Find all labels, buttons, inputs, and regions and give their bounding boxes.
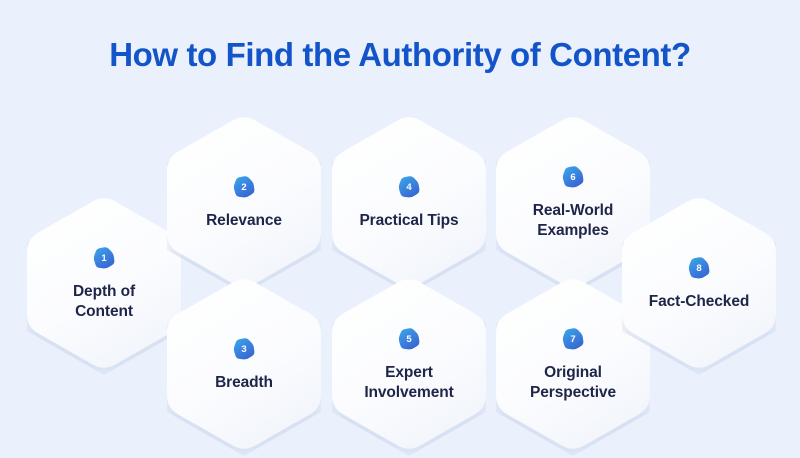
hexagon-practical-tips[interactable]: 4Practical Tips [328, 110, 490, 296]
hexagon-step-number: 8 [686, 255, 712, 281]
hexagon-label-line: Depth of [38, 282, 170, 302]
hexagon-label-line: Practical Tips [343, 211, 475, 231]
hexagon-fact-checked[interactable]: 8Fact-Checked [618, 191, 780, 377]
hexagon-content: 3Breadth [167, 276, 321, 452]
hexagon-step-number: 4 [396, 174, 422, 200]
hexagon-label-line: Perspective [507, 383, 639, 403]
hexagon-label-line: Expert [343, 363, 475, 383]
hexagon-label: Depth ofContent [38, 282, 170, 322]
hexagon-step-number: 7 [560, 326, 586, 352]
hexagon-content: 1Depth ofContent [27, 195, 181, 371]
hexagon-step-number: 3 [231, 336, 257, 362]
hexagon-label: Fact-Checked [633, 292, 765, 312]
hexagon-honeycomb-grid: 1Depth ofContent2Relevance3Breadth4Pract… [0, 0, 800, 457]
hexagon-label: Breadth [178, 373, 310, 393]
badge-1-icon: 1 [91, 245, 117, 271]
badge-5-icon: 5 [396, 326, 422, 352]
badge-7-icon: 7 [560, 326, 586, 352]
hexagon-label-line: Fact-Checked [633, 292, 765, 312]
badge-3-icon: 3 [231, 336, 257, 362]
hexagon-step-number: 2 [231, 174, 257, 200]
hexagon-relevance[interactable]: 2Relevance [163, 110, 325, 296]
hexagon-label-line: Relevance [178, 211, 310, 231]
hexagon-label-line: Breadth [178, 373, 310, 393]
badge-2-icon: 2 [231, 174, 257, 200]
hexagon-step-number: 1 [91, 245, 117, 271]
hexagon-content: 8Fact-Checked [622, 195, 776, 371]
hexagon-label-line: Involvement [343, 383, 475, 403]
hexagon-step-number: 5 [396, 326, 422, 352]
hexagon-label: ExpertInvolvement [343, 363, 475, 403]
hexagon-content: 5ExpertInvolvement [332, 276, 486, 452]
hexagon-expert-involvement[interactable]: 5ExpertInvolvement [328, 272, 490, 458]
badge-4-icon: 4 [396, 174, 422, 200]
hexagon-content: 2Relevance [167, 114, 321, 290]
badge-8-icon: 8 [686, 255, 712, 281]
hexagon-label-line: Content [38, 302, 170, 322]
hexagon-step-number: 6 [560, 164, 586, 190]
hexagon-breadth[interactable]: 3Breadth [163, 272, 325, 458]
hexagon-depth-of-content[interactable]: 1Depth ofContent [23, 191, 185, 377]
hexagon-content: 4Practical Tips [332, 114, 486, 290]
infographic-canvas: How to Find the Authority of Content? 1D… [0, 0, 800, 457]
badge-6-icon: 6 [560, 164, 586, 190]
hexagon-label: Relevance [178, 211, 310, 231]
hexagon-label: Practical Tips [343, 211, 475, 231]
